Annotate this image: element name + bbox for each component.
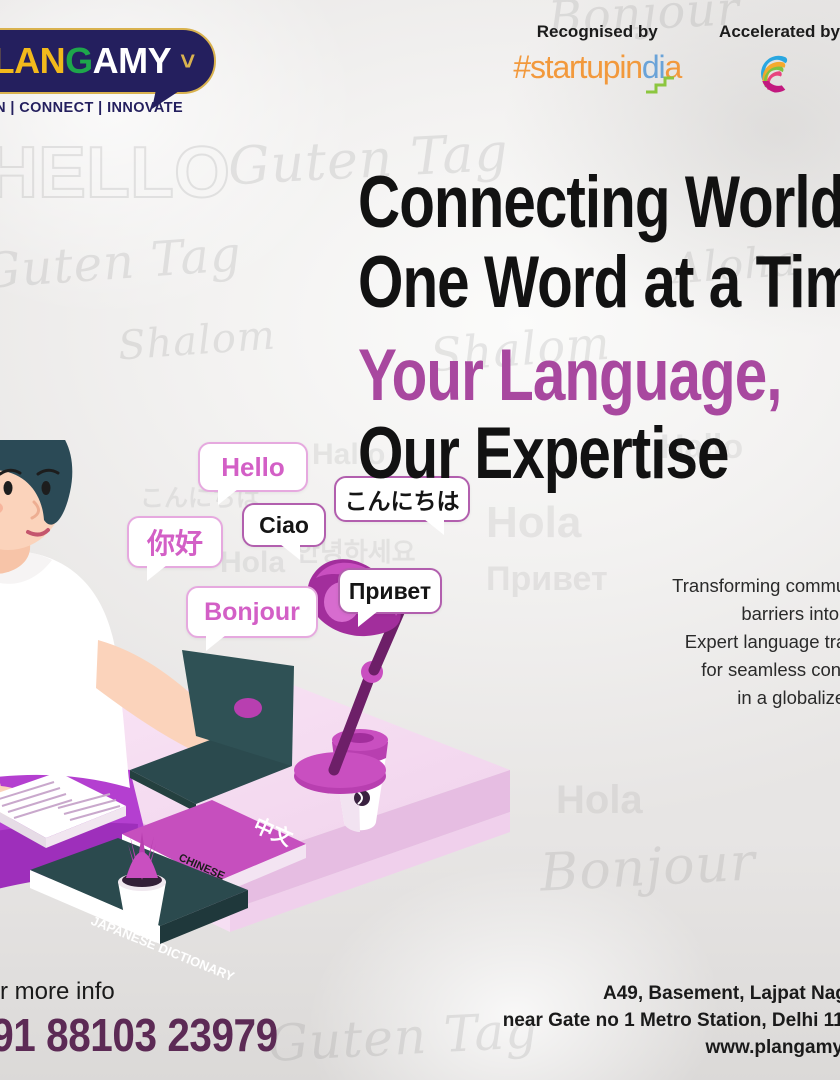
- watermark-hola: Hola: [556, 778, 643, 823]
- headline-line-2: One Word at a Time: [358, 248, 806, 319]
- headline-block: Connecting Worlds, One Word at a Time Yo…: [358, 168, 840, 490]
- badge-startup-india: Recognised by #startupindia: [513, 22, 681, 83]
- logo-text-amy: AMY: [93, 43, 172, 79]
- speech-bubble-ciao[interactable]: Ciao: [242, 503, 326, 547]
- startupindia-step-icon: [645, 76, 675, 94]
- footer-contact-right: A49, Basement, Lajpat Nagar 2, near Gate…: [503, 981, 840, 1062]
- logo-text-plan: PLAN: [0, 43, 65, 79]
- headline-line-1: Connecting Worlds,: [358, 168, 806, 239]
- subcopy-paragraph: Transforming communication barriers into…: [520, 572, 840, 713]
- partner-badges: Recognised by #startupindia Accelerated …: [513, 22, 840, 96]
- logo-text-g: G: [65, 43, 93, 79]
- footer-website[interactable]: www.plangamy.com: [503, 1035, 840, 1062]
- speech-bubble-privet[interactable]: Привет: [338, 568, 442, 614]
- watermark-shalom: Shalom: [117, 313, 278, 370]
- startupindia-logo: #startupindia: [513, 51, 681, 83]
- badge-label-accelerated: Accelerated by: [719, 22, 840, 42]
- subcopy-line-4: for seamless connections: [520, 656, 840, 684]
- logo-tagline: LEARN | CONNECT | INNOVATE: [0, 100, 183, 116]
- subcopy-line-1: Transforming communication: [520, 572, 840, 600]
- subcopy-line-3: Expert language translation: [520, 628, 840, 656]
- speech-bubble-nihao[interactable]: 你好: [127, 516, 223, 568]
- footer-contact-left: For more info +91 88103 23979: [0, 978, 320, 1062]
- subcopy-line-2: barriers into bridges.: [520, 600, 840, 628]
- logo-speech-bubble: PLAN G AMY ˅: [0, 28, 216, 94]
- speech-bubble-hello[interactable]: Hello: [198, 442, 308, 492]
- subcopy-line-5: in a globalized world.: [520, 684, 840, 712]
- footer-address-line-1: A49, Basement, Lajpat Nagar 2,: [503, 981, 840, 1008]
- footer-phone-number[interactable]: +91 88103 23979: [0, 1008, 278, 1062]
- logo-wordmark: PLAN G AMY ˅: [0, 43, 195, 79]
- poster-canvas: Guten TagGuten TagGuten TagHELLOShalomSh…: [0, 0, 840, 1080]
- brand-logo[interactable]: PLAN G AMY ˅ LEARN | CONNECT | INNOVATE: [0, 28, 248, 128]
- headline-line-4: Our Expertise: [358, 419, 806, 490]
- speech-bubble-bonjour[interactable]: Bonjour: [186, 586, 318, 638]
- footer-more-info-label: For more info: [0, 978, 320, 1006]
- footer-address-line-2: near Gate no 1 Metro Station, Delhi 1100…: [503, 1008, 840, 1035]
- badge-nasscom: Accelerated by: [719, 22, 840, 96]
- chevron-down-icon: ˅: [180, 48, 195, 74]
- badge-label-recognised: Recognised by: [537, 22, 658, 42]
- nasscom-swirl-icon: [757, 50, 803, 96]
- headline-line-3: Your Language,: [358, 341, 806, 412]
